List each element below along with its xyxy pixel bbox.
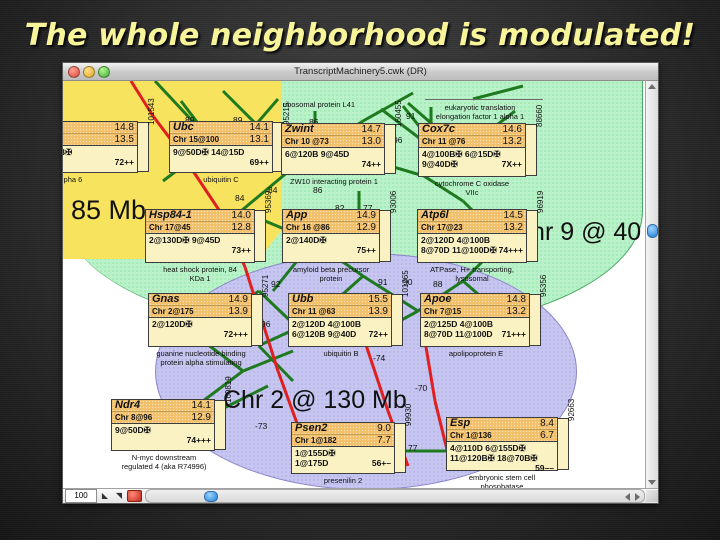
gene-value1: 14.6 [503, 124, 522, 135]
gene-value2: 12.9 [357, 223, 376, 233]
gene-value1: 14.9 [229, 294, 248, 305]
gene-header: Ubb15.5 Chr 11 @6313.9 [289, 294, 391, 318]
gene-score: 56+– [372, 458, 391, 468]
gene-name: App [286, 210, 307, 221]
edge-label: 77 [408, 443, 417, 453]
gene-header: 14.8 13.5 [63, 122, 137, 146]
gene-name: Ubb [292, 294, 313, 305]
gene-value1: 14.8 [115, 122, 134, 133]
gene-box-ndr4[interactable]: Ndr414.1 Chr 8@9612.9 9@50D✠ 74+++ 16081… [111, 399, 215, 451]
window-bottom-bar: 100 ◣ ◥ [63, 488, 658, 503]
gene-qtl: 9@50D✠ [115, 425, 211, 435]
gene-score: 71+++ [502, 329, 526, 339]
gene-description-psen2: presenilin 2 [301, 477, 385, 486]
gene-score: 74+++ [112, 435, 214, 446]
window-titlebar[interactable]: TranscriptMachinery5.cwk (DR) [63, 63, 658, 81]
gene-qtl: 4@110D 6@155D✠ [450, 443, 554, 453]
eef1a1-divider [425, 99, 543, 100]
gene-body: 6@120B 9@45D [282, 148, 384, 159]
edge-label: -73 [255, 421, 267, 431]
gene-body: 4@110D 6@155D✠ 11@120B✠ 18@70B✠ [447, 442, 557, 463]
gene-score: 7X++ [502, 159, 522, 169]
gene-description-gnb6: alpha 6 [63, 176, 105, 185]
gene-location: Chr 8@96 [115, 413, 152, 423]
gene-box-gnb6[interactable]: 14.8 13.5 @110B✠ 72++ 101543 [63, 121, 138, 173]
gene-description-esp: embryonic stem cellphosphatase [446, 474, 558, 488]
gene-accession-text: 95356 [539, 275, 548, 297]
gene-header: App14.9 Chr 16 @8612.9 [283, 210, 379, 234]
gene-value2: 13.0 [362, 137, 381, 147]
gene-name: Cox7c [422, 124, 455, 135]
slide-root: The whole neighborhood is modulated! Tra… [0, 0, 720, 540]
gene-box-cox7c[interactable]: Cox7c14.6 Chr 11 @7613.2 4@100B✠ 6@15D✠ … [418, 123, 526, 177]
region-label-chr2: Chr 2 @ 130 Mb [223, 386, 407, 415]
gene-header: Psen29.0 Chr 1@1827.7 [292, 423, 394, 447]
gene-name: Ndr4 [115, 400, 140, 411]
gene-body: 9@50D✠ 14@15D [170, 146, 272, 157]
gene-value1: 14.1 [192, 400, 211, 411]
gene-value2: 13.9 [229, 307, 248, 317]
gene-name: Atp6l [421, 210, 449, 221]
gene-qtl: 9@40D✠ [422, 159, 458, 169]
gene-accession: 101265 [392, 294, 403, 346]
gene-box-hsp84-1[interactable]: Hsp84-114.0 Chr 17@4512.8 2@130D✠ 9@45D … [145, 209, 255, 263]
horizontal-scrollbar[interactable] [145, 489, 645, 503]
gene-value2: 13.2 [504, 223, 523, 233]
gene-description-zwint: ZW10 interacting protein 1 [275, 178, 393, 187]
gene-location: Chr 1@136 [450, 431, 492, 441]
gene-accession-text: 95215 [282, 103, 291, 125]
gene-description-gnas: guanine nucleotide bindingprotein alpha … [137, 350, 265, 367]
gene-description-atp6l: ATPase, H+ transporting,lysosomal [413, 266, 531, 283]
gene-location: Chr 11 @63 [292, 307, 335, 317]
zoom-level-field[interactable]: 100 [65, 489, 97, 503]
gene-name: Apoe [424, 294, 452, 305]
gene-accession-text: 88660 [535, 105, 544, 127]
gene-qtl: 1@175D [295, 458, 328, 468]
gene-qtl: 2@130D✠ 9@45D [149, 235, 251, 245]
gene-score: 73++ [146, 245, 254, 256]
gene-accession-text: 95271 [261, 275, 270, 297]
gene-value2: 13.1 [250, 135, 269, 145]
gene-value1: 14.9 [357, 210, 376, 221]
gene-accession: 93006 [380, 210, 391, 262]
gene-value1: 14.8 [507, 294, 526, 305]
edge-label: 86 [313, 185, 322, 195]
gene-qtl: 1@155D✠ [295, 448, 391, 458]
gene-qtl: 11@120B✠ 18@70B✠ [450, 453, 554, 463]
gene-accession-text: 160819 [224, 376, 233, 403]
scroll-left-icon[interactable] [625, 493, 630, 501]
gene-value1: 14.0 [232, 210, 251, 221]
gene-header: Apoe14.8 Chr 7@1513.2 [421, 294, 529, 318]
edge-label: -70 [415, 383, 427, 393]
gene-name: Hsp84-1 [149, 210, 192, 221]
gene-accession-text: 96919 [536, 191, 545, 213]
gene-box-atp6l[interactable]: Atp6l14.5 Chr 17@2313.2 2@120D 4@100B 8@… [417, 209, 527, 263]
vertical-scrollbar[interactable] [645, 81, 658, 488]
gene-value2: 13.2 [503, 137, 522, 147]
gene-box-zwint[interactable]: Zwint14.7 Chr 10 @7313.0 6@120B 9@45D 74… [281, 123, 385, 175]
gene-qtl: 2@120D 4@100B [292, 319, 388, 329]
resize-grip[interactable] [646, 490, 658, 502]
gene-description-ndr4: N-myc downstreamregulated 4 (aka R74996) [99, 454, 229, 471]
gene-accession: 95271 [252, 294, 263, 346]
region-label-85mb: 85 Mb [71, 195, 146, 226]
application-window: TranscriptMachinery5.cwk (DR) [62, 62, 659, 504]
gene-value1: 14.5 [504, 210, 523, 221]
gene-box-esp[interactable]: Esp8.4 Chr 1@1366.7 4@110D 6@155D✠ 11@12… [446, 417, 558, 471]
window-title: TranscriptMachinery5.cwk (DR) [63, 66, 658, 77]
gene-location: Chr 17@23 [421, 223, 463, 233]
gene-location: Chr 16 @86 [286, 223, 330, 233]
gene-accession: 99930 [395, 423, 406, 473]
gene-location: Chr 10 @73 [285, 137, 329, 147]
label-eef1a1: eukaryotic translationelongation factor … [415, 103, 545, 121]
gene-value2: 7.7 [377, 436, 391, 446]
gene-qtl: 8@70D 11@100D✠ [421, 245, 497, 255]
gene-location: Chr 15@100 [173, 135, 219, 145]
gene-accession-text: 99930 [404, 404, 413, 426]
gene-accession: 95369 [255, 210, 266, 262]
gene-qtl: 2@120D 4@100B [421, 235, 523, 245]
zoom-in-icon[interactable]: ◥ [113, 490, 125, 502]
zoom-out-icon[interactable]: ◣ [99, 490, 111, 502]
gene-description-hsp84-1: heat shock protein, 84KDa 1 [143, 266, 257, 283]
gene-value2: 12.9 [192, 413, 211, 423]
gene-qtl: @110B✠ [63, 147, 134, 157]
gene-location: Chr 1@182 [295, 436, 337, 446]
gene-location: Chr 17@45 [149, 223, 191, 233]
gene-description-ubb: ubiquitin B [303, 350, 379, 359]
gene-value2: 13.2 [507, 307, 526, 317]
gene-value1: 14.1 [250, 122, 269, 133]
gene-header: Hsp84-114.0 Chr 17@4512.8 [146, 210, 254, 234]
gene-score: 74++ [282, 159, 384, 170]
gene-header: Esp8.4 Chr 1@1366.7 [447, 418, 557, 442]
scroll-right-icon[interactable] [635, 493, 640, 501]
gene-body: @110B✠ [63, 146, 137, 157]
document-area: ribosomal protein L41 eukaryotic transla… [63, 81, 658, 488]
gene-body: 2@130D✠ 9@45D [146, 234, 254, 245]
color-palette-icon[interactable] [127, 490, 142, 502]
gene-body: 2@140D✠ [283, 234, 379, 245]
gene-header: Atp6l14.5 Chr 17@2313.2 [418, 210, 526, 234]
scroll-down-icon[interactable] [648, 480, 656, 485]
gene-location: Chr 11 @76 [422, 137, 465, 147]
gene-name: Gnas [152, 294, 180, 305]
gene-score: 72++ [369, 329, 388, 339]
gene-value1: 15.5 [369, 294, 388, 305]
page-title: The whole neighborhood is modulated! [0, 18, 720, 53]
gene-accession-text: 95369 [264, 191, 273, 213]
gene-accession-text: 93006 [389, 191, 398, 213]
gene-value2: 13.9 [369, 307, 388, 317]
gene-score: 74+++ [499, 245, 523, 255]
gene-box-ubb[interactable]: Ubb15.5 Chr 11 @6313.9 2@120D 4@100B 6@1… [288, 293, 392, 347]
gene-description-apoe: apolipoprotein E [431, 350, 521, 359]
gene-box-app[interactable]: App14.9 Chr 16 @8612.9 2@140D✠ 75++ 9300… [282, 209, 380, 263]
gene-qtl: 2@140D✠ [286, 235, 376, 245]
gene-score: 69++ [170, 157, 272, 168]
gene-accession: 160455 [385, 124, 396, 174]
gene-header: Zwint14.7 Chr 10 @7313.0 [282, 124, 384, 148]
gene-body: 1@155D✠ 1@175D56+– [292, 447, 394, 468]
gene-header: Cox7c14.6 Chr 11 @7613.2 [419, 124, 525, 148]
gene-qtl: 2@120D✠ [152, 319, 248, 329]
gene-name: Psen2 [295, 423, 327, 434]
gene-qtl: 9@50D✠ 14@15D [173, 147, 269, 157]
horizontal-scroll-thumb[interactable] [204, 491, 218, 502]
gene-value2: 13.5 [115, 135, 134, 145]
gene-body: 2@125D 4@100B 8@70D 11@100D71+++ [421, 318, 529, 339]
gene-box-psen2[interactable]: Psen29.0 Chr 1@1827.7 1@155D✠ 1@175D56+–… [291, 422, 395, 474]
gene-score: 72++ [63, 157, 137, 168]
gene-qtl: 6@120B 9@45D [285, 149, 381, 159]
gene-accession: 160819 [215, 400, 226, 450]
gene-body: 4@100B✠ 6@15D✠ 9@40D✠7X++ [419, 148, 525, 169]
gene-name: Ubc [173, 122, 194, 133]
gene-box-apoe[interactable]: Apoe14.8 Chr 7@1513.2 2@125D 4@100B 8@70… [420, 293, 530, 347]
gene-qtl: 8@70D 11@100D [424, 329, 493, 339]
gene-qtl: 2@125D 4@100B [424, 319, 526, 329]
label-ribosomal-protein-l41: ribosomal protein L41 [259, 101, 379, 110]
gene-body: 2@120D 4@100B 6@120B 9@40D72++ [289, 318, 391, 339]
gene-accession-text: 92663 [567, 399, 576, 421]
gene-qtl: 4@100B✠ 6@15D✠ [422, 149, 522, 159]
gene-score: 72+++ [149, 329, 251, 340]
gene-accession: 95356 [530, 294, 541, 346]
scroll-up-icon[interactable] [648, 84, 656, 89]
gene-value1: 8.4 [540, 418, 554, 429]
vertical-scroll-thumb[interactable] [647, 224, 658, 238]
gene-accession-text: 101543 [147, 98, 156, 125]
gene-description-app: amyloid beta precursorprotein [275, 266, 387, 283]
gene-name: Zwint [285, 124, 314, 135]
gene-accession: 96919 [527, 210, 538, 262]
gene-value2: 12.8 [232, 223, 251, 233]
gene-accession: 92663 [558, 418, 569, 470]
gene-body: 9@50D✠ [112, 424, 214, 435]
gene-description-ubc: ubiquitin C [183, 176, 259, 185]
gene-header: Ndr414.1 Chr 8@9612.9 [112, 400, 214, 424]
gene-box-gnas[interactable]: Gnas14.9 Chr 2@17513.9 2@120D✠ 72+++ 952… [148, 293, 252, 347]
gene-body: 2@120D 4@100B 8@70D 11@100D✠74+++ [418, 234, 526, 255]
gene-accession: 101543 [138, 122, 149, 172]
edge-label: 84 [235, 193, 244, 203]
gene-header: Gnas14.9 Chr 2@17513.9 [149, 294, 251, 318]
gene-header: Ubc14.1 Chr 15@10013.1 [170, 122, 272, 146]
gene-qtl: 6@120B 9@40D [292, 329, 356, 339]
gene-value1: 14.7 [362, 124, 381, 135]
gene-accession-text: 101265 [401, 270, 410, 297]
gene-score: 75++ [283, 245, 379, 256]
gene-accession: 88660 [526, 124, 537, 176]
gene-box-ubc[interactable]: Ubc14.1 Chr 15@10013.1 9@50D✠ 14@15D 69+… [169, 121, 273, 173]
gene-accession-text: 160455 [394, 100, 403, 127]
gene-name: Esp [450, 418, 470, 429]
gene-location: Chr 7@15 [424, 307, 461, 317]
gene-description-cox7c: cytochrome C oxidaseVIIc [416, 180, 528, 197]
diagram-canvas[interactable]: ribosomal protein L41 eukaryotic transla… [63, 81, 645, 488]
gene-body: 2@120D✠ [149, 318, 251, 329]
gene-value2: 6.7 [540, 431, 554, 441]
gene-location: Chr 2@175 [152, 307, 194, 317]
gene-value1: 9.0 [377, 423, 391, 434]
